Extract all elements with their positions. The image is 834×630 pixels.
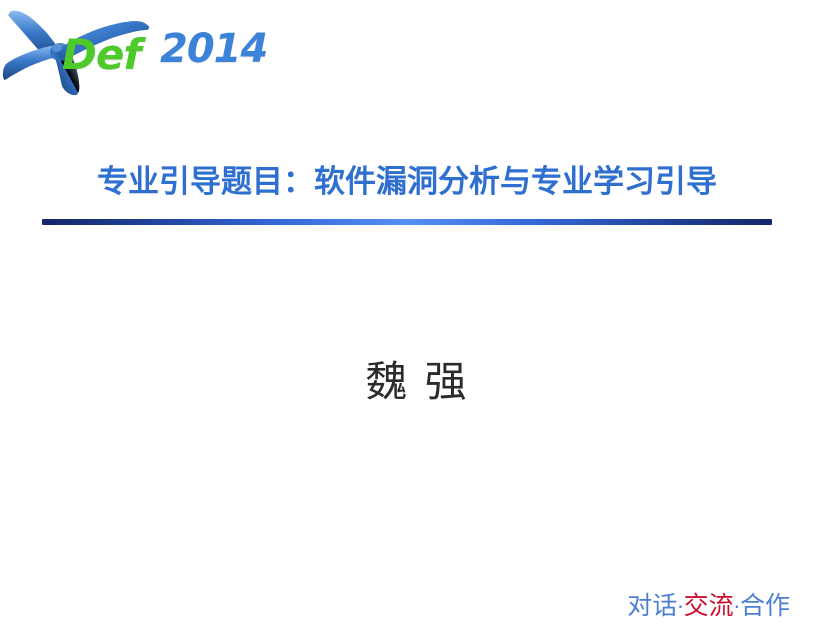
title-block: 专业引导题目：软件漏洞分析与专业学习引导 — [42, 160, 772, 225]
footer-slogan: 对话·交流·合作 — [627, 593, 790, 618]
slogan-part-cooperation: 合作 — [740, 591, 790, 620]
title-divider — [42, 219, 772, 225]
presentation-slide: Def 2014 专业引导题目：软件漏洞分析与专业学习引导 魏 强 对话·交流·… — [0, 0, 834, 630]
slogan-part-dialogue: 对话 — [627, 591, 677, 620]
page-title: 专业引导题目：软件漏洞分析与专业学习引导 — [42, 160, 772, 204]
slogan-part-exchange: 交流 — [684, 591, 734, 620]
xdef-logo: Def 2014 — [0, 0, 290, 100]
logo-def-text: Def — [62, 30, 141, 79]
logo-year-text: 2014 — [160, 26, 267, 72]
presenter-name: 魏 强 — [0, 348, 834, 409]
